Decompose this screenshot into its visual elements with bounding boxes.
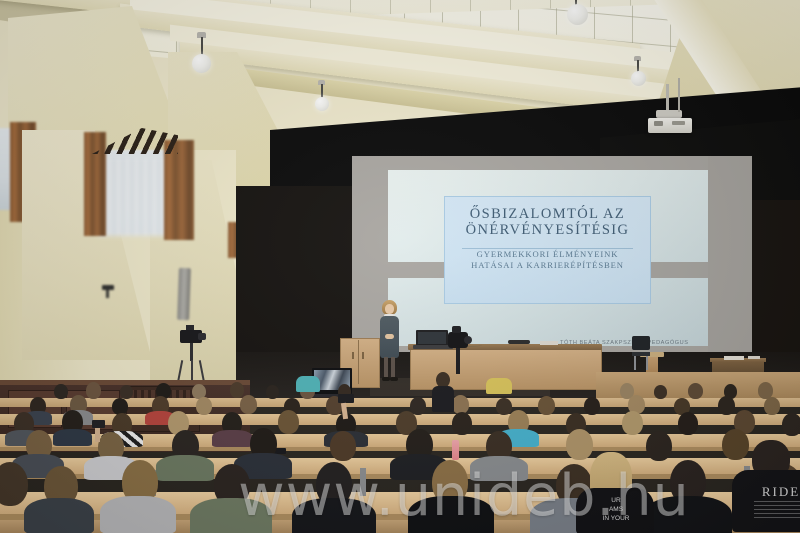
slide-subtitle-line1: GYERMEKKORI ÉLMÉNYEINK bbox=[445, 249, 650, 260]
stage-cabinet-handle-left bbox=[352, 352, 354, 359]
presenter-face bbox=[385, 304, 394, 314]
photograph-lecture-hall: ŐSBIZALOMTÓL AZ ÖNÉRVÉNYESÍTÉSIG GYERMEK… bbox=[0, 0, 800, 533]
table-mic bbox=[508, 340, 530, 344]
presenter-hands bbox=[385, 334, 394, 339]
wall-speaker bbox=[177, 268, 191, 320]
attendee-yellow-shirt bbox=[486, 378, 512, 394]
slide-divider bbox=[462, 248, 633, 249]
hoodie-print-text: RIDE bbox=[750, 484, 800, 500]
shirt-text-line1: UR bbox=[586, 496, 646, 505]
screen-grey-right-column bbox=[708, 156, 752, 352]
slide-title-line2: ÖNÉRVÉNYESÍTÉSIG bbox=[445, 222, 650, 238]
table-papers bbox=[540, 341, 558, 345]
slide-title-line1: ŐSBIZALOMTÓL AZ bbox=[445, 206, 650, 222]
curtain-right-panel bbox=[164, 140, 194, 240]
slide-content-box: ŐSBIZALOMTÓL AZ ÖNÉRVÉNYESÍTÉSIG GYERMEK… bbox=[444, 196, 651, 304]
slide-subtitle-line2: HATÁSAI A KARRIERÉPÍTÉSBEN bbox=[445, 260, 650, 271]
shirt-text-line3: IN YOUR bbox=[586, 514, 646, 523]
stage-cabinet-handle-right bbox=[362, 352, 364, 359]
attendee-teal-jacket bbox=[296, 376, 320, 392]
audience-row-e bbox=[0, 440, 800, 510]
shirt-text-line2: AMS bbox=[586, 505, 646, 514]
curtain-left-panel bbox=[84, 132, 106, 236]
